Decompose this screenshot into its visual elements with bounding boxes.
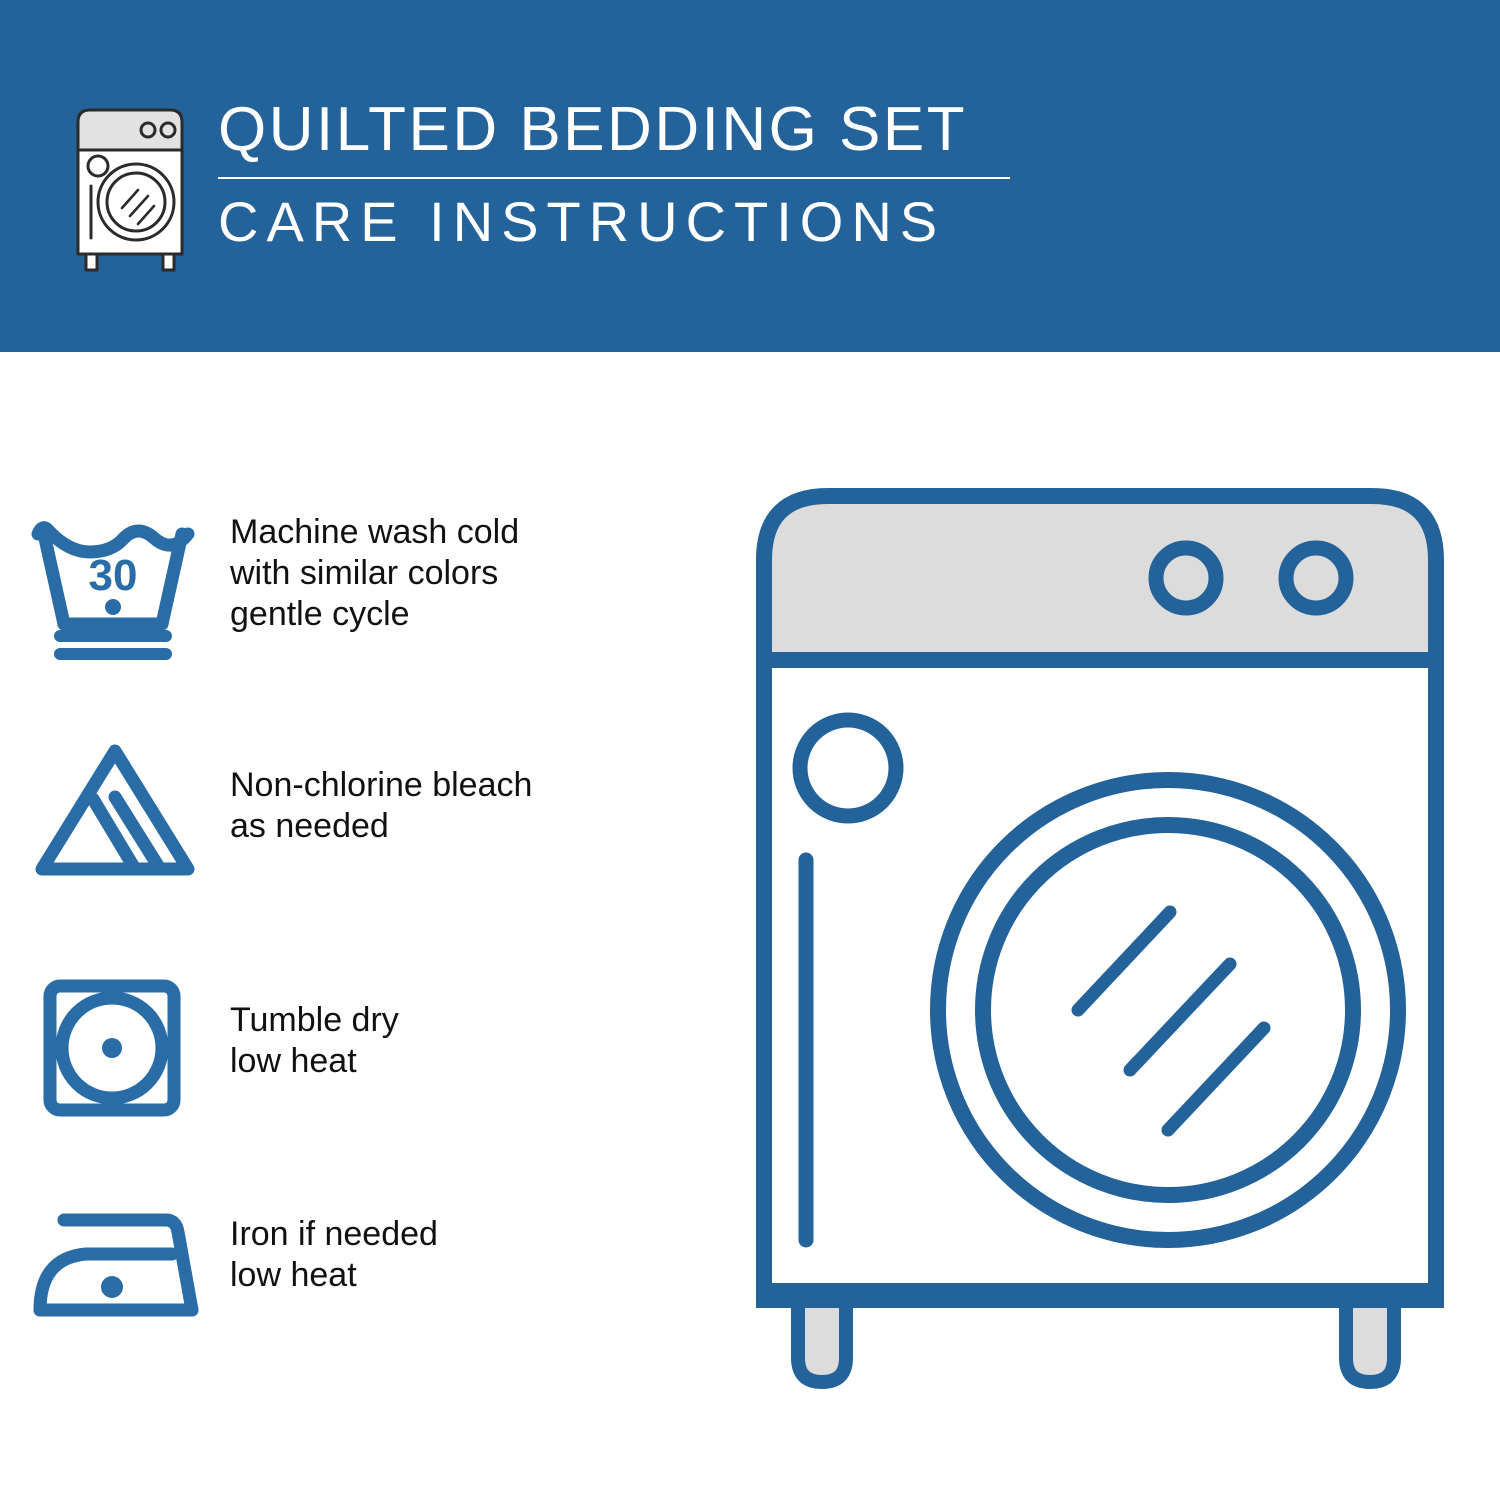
tumble-dry-low-icon xyxy=(0,972,230,1122)
care-instructions-infographic: QUILTED BEDDING SET CARE INSTRUCTIONS xyxy=(0,0,1500,1500)
care-label-line: Non-chlorine bleach xyxy=(230,765,532,806)
knob-right xyxy=(1286,548,1346,608)
front-load-washing-machine-illustration xyxy=(740,470,1460,1430)
title-divider xyxy=(218,177,1010,179)
care-label-bleach: Non-chlorine bleach as needed xyxy=(230,737,532,847)
care-row-tumble-dry: Tumble dry low heat xyxy=(0,972,740,1122)
care-label-line: gentle cycle xyxy=(230,594,519,635)
care-row-machine-wash: 30 Machine wash cold with similar colors… xyxy=(0,512,740,662)
header-banner: QUILTED BEDDING SET CARE INSTRUCTIONS xyxy=(0,0,1500,352)
header-text: QUILTED BEDDING SET CARE INSTRUCTIONS xyxy=(218,95,1018,255)
care-label-machine-wash: Machine wash cold with similar colors ge… xyxy=(230,512,519,635)
care-label-line: Tumble dry xyxy=(230,1000,399,1041)
care-label-line: Machine wash cold xyxy=(230,512,519,553)
dispenser-button xyxy=(800,720,896,816)
machine-wash-30-gentle-icon: 30 xyxy=(0,512,230,662)
care-instruction-list: 30 Machine wash cold with similar colors… xyxy=(0,352,740,1500)
washing-machine-icon xyxy=(64,104,196,274)
care-label-line: low heat xyxy=(230,1041,399,1082)
care-row-bleach: Non-chlorine bleach as needed xyxy=(0,737,740,887)
care-label-line: as needed xyxy=(230,806,532,847)
non-chlorine-bleach-icon xyxy=(0,737,230,887)
drum-door-inner xyxy=(983,825,1353,1195)
iron-low-heat-icon xyxy=(0,1192,230,1342)
page-subtitle: CARE INSTRUCTIONS xyxy=(218,189,1018,255)
knob-left xyxy=(1156,548,1216,608)
page-title: QUILTED BEDDING SET xyxy=(218,95,1018,165)
care-label-line: with similar colors xyxy=(230,553,519,594)
wash-temperature-value: 30 xyxy=(89,551,138,600)
care-label-line: low heat xyxy=(230,1255,438,1296)
care-label-line: Iron if needed xyxy=(230,1214,438,1255)
care-label-tumble-dry: Tumble dry low heat xyxy=(230,972,399,1082)
care-row-iron: Iron if needed low heat xyxy=(0,1192,740,1342)
care-label-iron: Iron if needed low heat xyxy=(230,1192,438,1296)
